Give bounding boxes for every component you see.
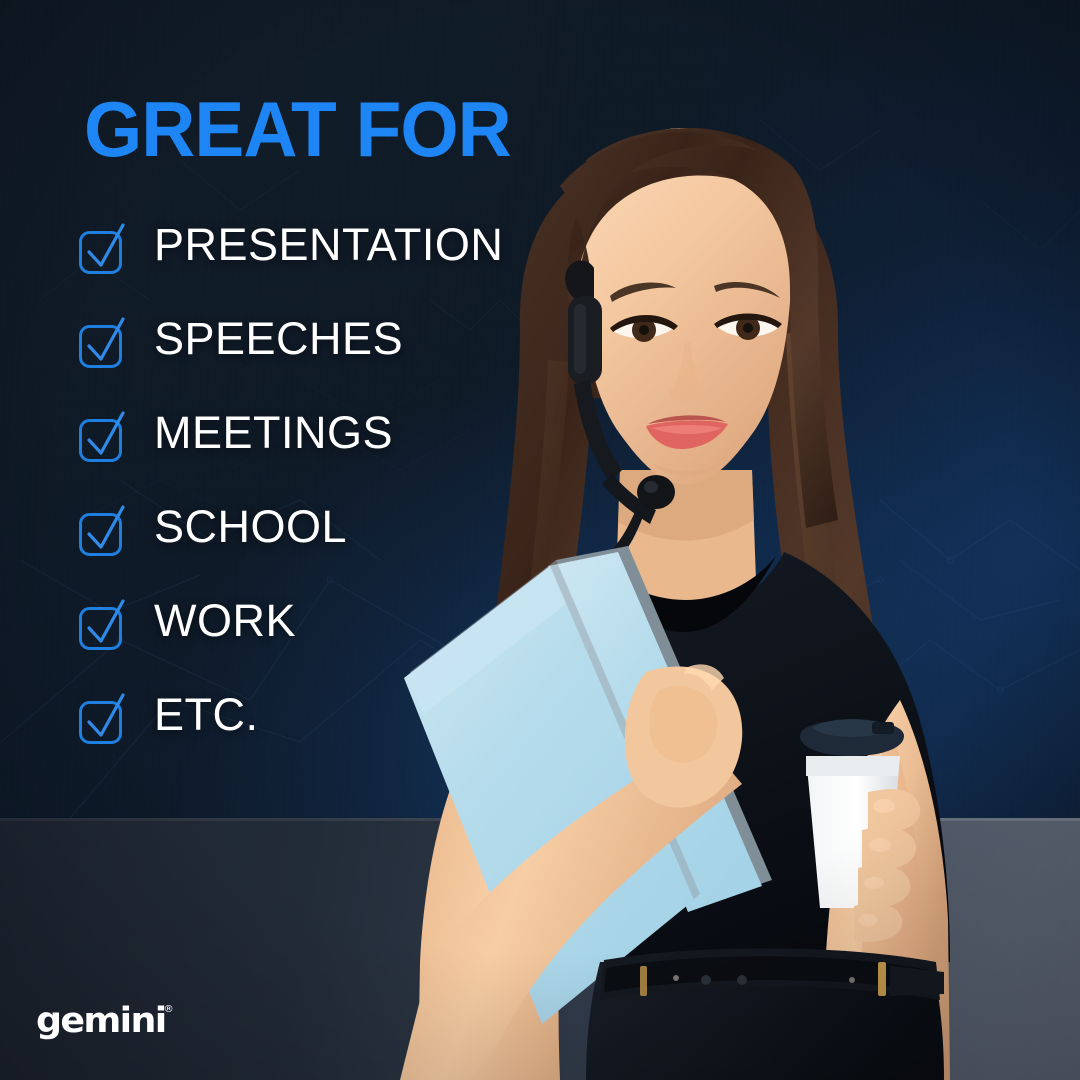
checkbox-checked-icon <box>78 318 124 374</box>
list-item: ETC. <box>78 692 548 786</box>
list-item-label: PRESENTATION <box>154 222 503 268</box>
list-item: SPEECHES <box>78 316 548 410</box>
list-item: WORK <box>78 598 548 692</box>
checkbox-checked-icon <box>78 412 124 468</box>
promo-poster: GREAT FOR PRESENTATION SPEECHES <box>0 0 1080 1080</box>
list-item-label: WORK <box>154 598 296 644</box>
checkbox-checked-icon <box>78 224 124 280</box>
list-item-label: SPEECHES <box>154 316 403 362</box>
list-item: SCHOOL <box>78 504 548 598</box>
checkbox-checked-icon <box>78 600 124 656</box>
list-item-label: SCHOOL <box>154 504 347 550</box>
checkbox-checked-icon <box>78 694 124 750</box>
page-title: GREAT FOR <box>84 92 511 166</box>
brand-logo-text: gemini <box>36 1002 166 1040</box>
list-item: PRESENTATION <box>78 222 548 316</box>
list-item: MEETINGS <box>78 410 548 504</box>
list-item-label: ETC. <box>154 692 259 738</box>
brand-logo: gemini ® <box>36 1002 174 1040</box>
checkbox-checked-icon <box>78 506 124 562</box>
list-item-label: MEETINGS <box>154 410 393 456</box>
benefits-checklist: PRESENTATION SPEECHES MEETINGS <box>78 222 548 786</box>
